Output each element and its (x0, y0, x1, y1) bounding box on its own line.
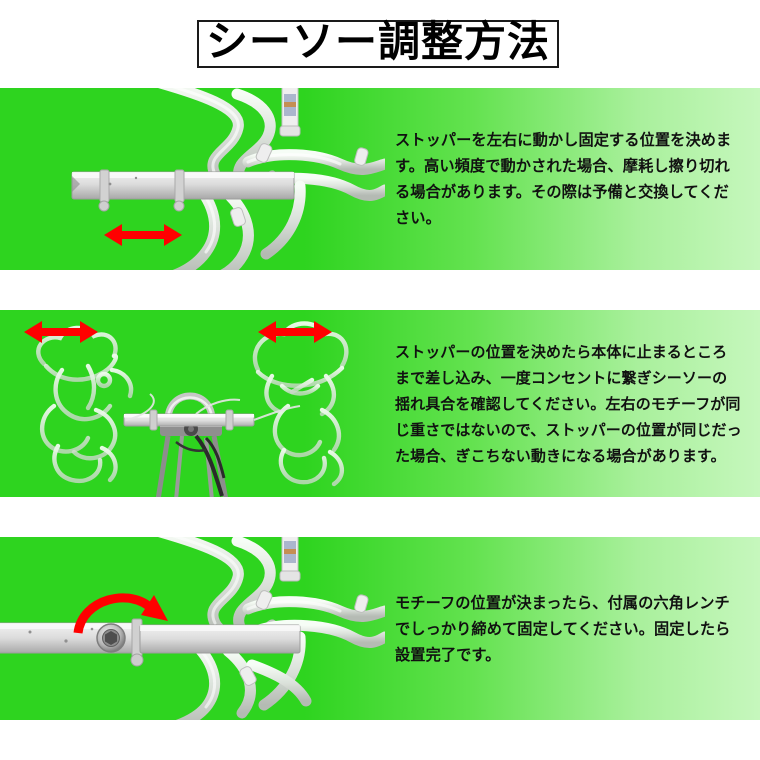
stopper-bar (72, 170, 294, 211)
step-1-panel: ストッパーを左右に動かし固定する位置を決めます。高い頻度で動かされた場合、摩耗し… (0, 88, 760, 270)
seesaw-stand (158, 396, 226, 497)
step-2-photo (0, 310, 385, 497)
title-area: シーソー調整方法 (0, 0, 760, 88)
connector-plug (280, 537, 300, 581)
step-3-illustration (0, 537, 385, 720)
step-1-text-column: ストッパーを左右に動かし固定する位置を決めます。高い頻度で動かされた場合、摩耗し… (385, 88, 760, 270)
stopper-bar-assembly (0, 619, 300, 666)
hex-screw (97, 624, 125, 652)
step-1-photo (0, 88, 385, 270)
instruction-page: シーソー調整方法 (0, 0, 760, 760)
step-3-photo (0, 537, 385, 720)
step-3-text-column: モチーフの位置が決まったら、付属の六角レンチでしっかり締めて固定してください。固… (385, 537, 760, 720)
step-2-panel: ストッパーの位置を決めたら本体に止まるところまで差し込み、一度コンセントに繋ぎシ… (0, 310, 760, 497)
right-motif (255, 324, 346, 485)
left-motif (38, 328, 131, 481)
step-3-text: モチーフの位置が決まったら、付属の六角レンチでしっかり締めて固定してください。固… (385, 590, 760, 668)
connector-plug (280, 88, 300, 136)
step-2-text: ストッパーの位置を決めたら本体に止まるところまで差し込み、一度コンセントに繋ぎシ… (385, 339, 760, 469)
title-box: シーソー調整方法 (197, 20, 559, 68)
double-arrow-horizontal (104, 224, 182, 246)
step-2-text-column: ストッパーの位置を決めたら本体に止まるところまで差し込み、一度コンセントに繋ぎシ… (385, 310, 760, 497)
step-1-text: ストッパーを左右に動かし固定する位置を決めます。高い頻度で動かされた場合、摩耗し… (385, 127, 760, 231)
page-title: シーソー調整方法 (206, 21, 550, 63)
step-2-illustration (0, 310, 385, 497)
step-1-illustration (0, 88, 385, 270)
step-3-panel: モチーフの位置が決まったら、付属の六角レンチでしっかり締めて固定してください。固… (0, 537, 760, 720)
